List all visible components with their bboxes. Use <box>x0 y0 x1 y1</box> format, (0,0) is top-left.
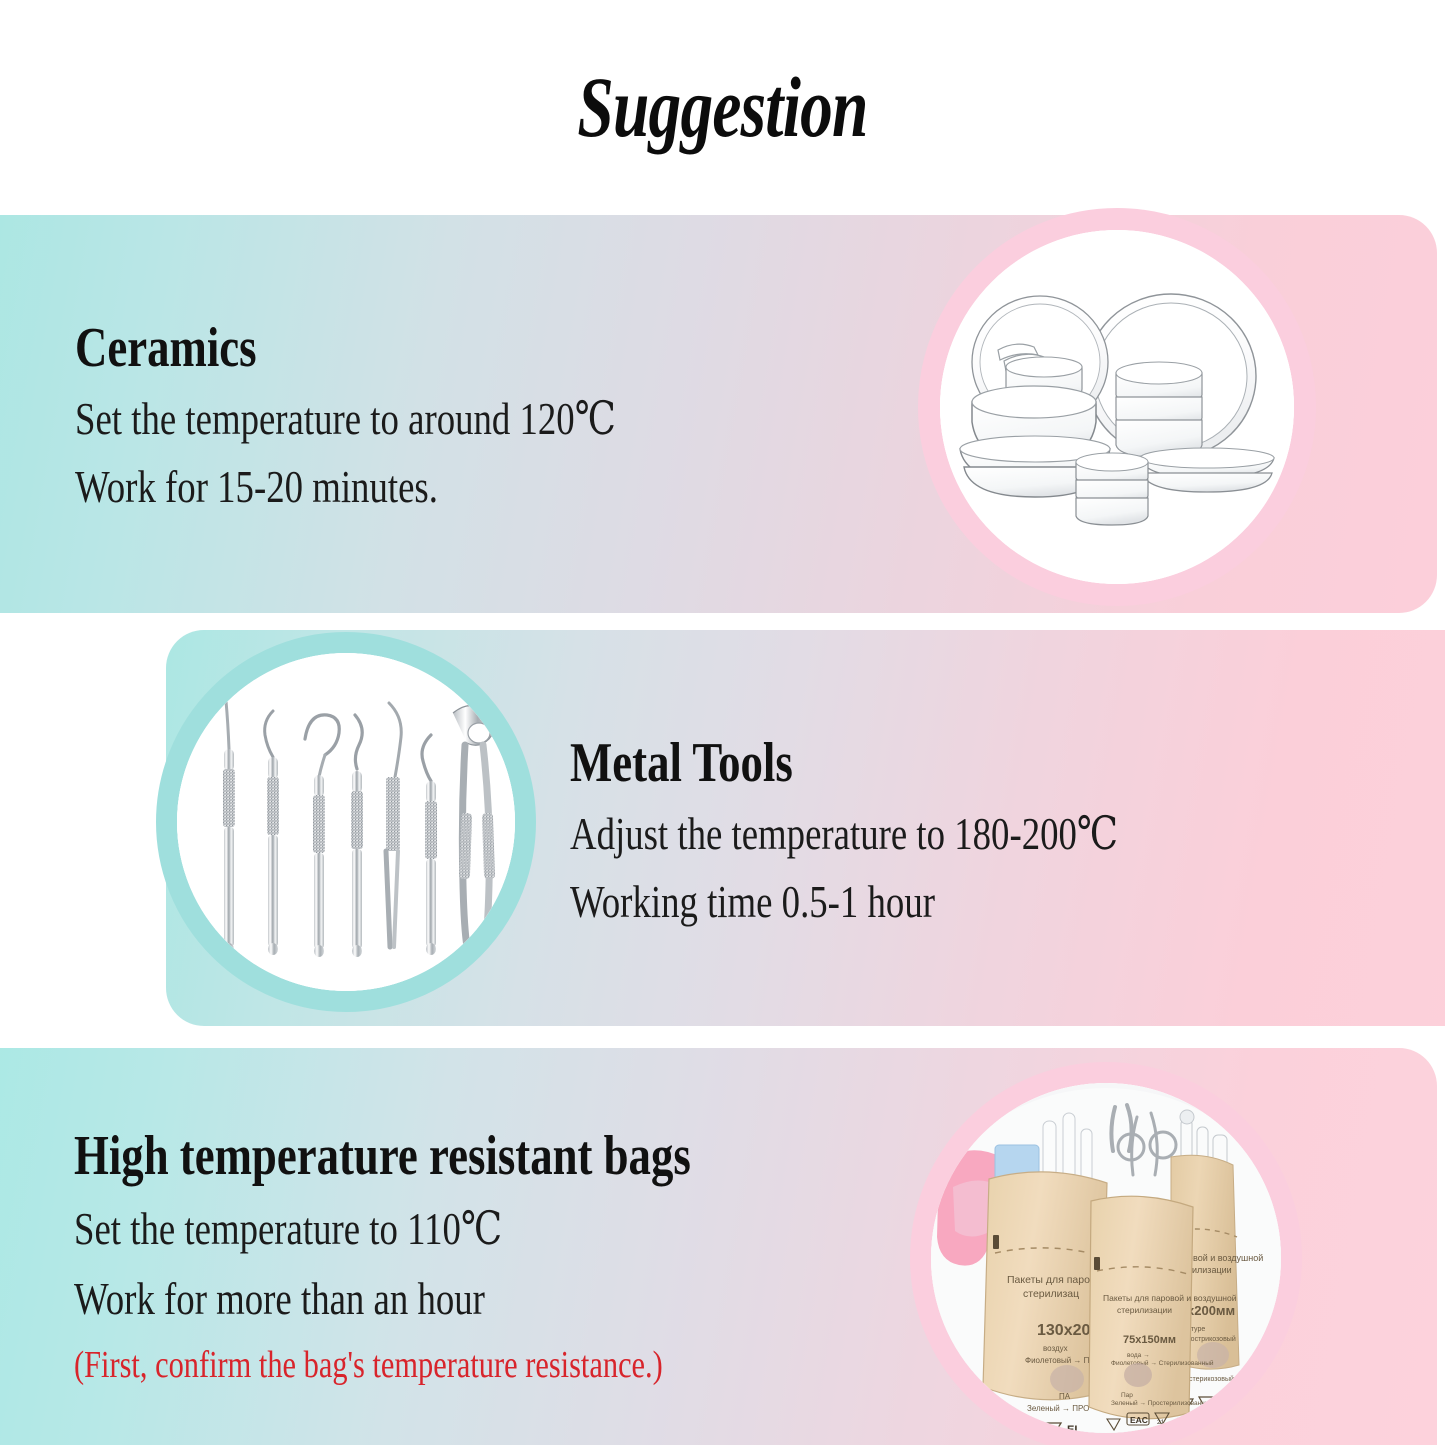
card-line-bags-duration: Work for more than an hour <box>74 1276 691 1322</box>
photo-metal-tools <box>177 653 515 991</box>
svg-text:рилизации: рилизации <box>1187 1265 1232 1275</box>
svg-text:стерикозовый: стерикозовый <box>1189 1375 1234 1383</box>
dental-tools-illustration <box>177 653 515 991</box>
svg-text:Зеленый → ПРО: Зеленый → ПРО <box>1027 1404 1089 1413</box>
card-line-metal-temperature: Adjust the temperature to 180-200℃ <box>570 811 1118 857</box>
svg-text:EAC: EAC <box>1130 1415 1148 1425</box>
ceramic-dinnerware-illustration <box>940 230 1294 584</box>
card-text-bags: High temperature resistant bags Set the … <box>74 1128 845 1384</box>
card-line-metal-duration: Working time 0.5-1 hour <box>570 879 1118 925</box>
svg-text:Пар: Пар <box>1121 1392 1133 1399</box>
svg-text:Пакеты для паровой и воздушной: Пакеты для паровой и воздушной <box>1103 1293 1237 1303</box>
svg-text:Зеленый → Простерилизованный: Зеленый → Простерилизованный <box>1111 1399 1213 1407</box>
card-text-ceramics: Ceramics Set the temperature to around 1… <box>75 320 751 532</box>
sterilization-bags-illustration: ровой и воздушной рилизации x200мм атуре… <box>931 1083 1281 1433</box>
svg-text:ровой и воздушной: ровой и воздушной <box>1183 1253 1263 1263</box>
page-title: Suggestion <box>173 62 1271 153</box>
svg-text:ПА: ПА <box>1059 1392 1071 1401</box>
card-line-ceramics-duration: Work for 15-20 minutes. <box>75 464 616 510</box>
svg-text:x200мм: x200мм <box>1187 1303 1235 1318</box>
card-line-ceramics-temperature: Set the temperature to around 120℃ <box>75 396 616 442</box>
card-warning-bags: (First, confirm the bag's temperature re… <box>74 1346 691 1384</box>
card-heading-metal-tools: Metal Tools <box>570 735 1118 791</box>
svg-text:стерилизац: стерилизац <box>1023 1288 1079 1300</box>
photo-ceramics-dinnerware <box>940 230 1294 584</box>
card-heading-ceramics: Ceramics <box>75 320 616 376</box>
card-line-bags-temperature: Set the temperature to 110℃ <box>74 1206 691 1252</box>
photo-sterilization-bags: ровой и воздушной рилизации x200мм атуре… <box>931 1083 1281 1433</box>
svg-text:вода →: вода → <box>1127 1352 1150 1359</box>
svg-text:стерилизации: стерилизации <box>1117 1305 1172 1315</box>
svg-text:75х150мм: 75х150мм <box>1123 1334 1176 1346</box>
card-heading-bags: High temperature resistant bags <box>74 1128 691 1184</box>
infographic-page: Suggestion Ceramics Set the temperature … <box>0 0 1445 1445</box>
card-text-metal-tools: Metal Tools Adjust the temperature to 18… <box>570 735 1255 947</box>
svg-text:Фиолетовый → Стерилизованный: Фиолетовый → Стерилизованный <box>1111 1359 1214 1367</box>
svg-text:воздух: воздух <box>1043 1344 1068 1353</box>
